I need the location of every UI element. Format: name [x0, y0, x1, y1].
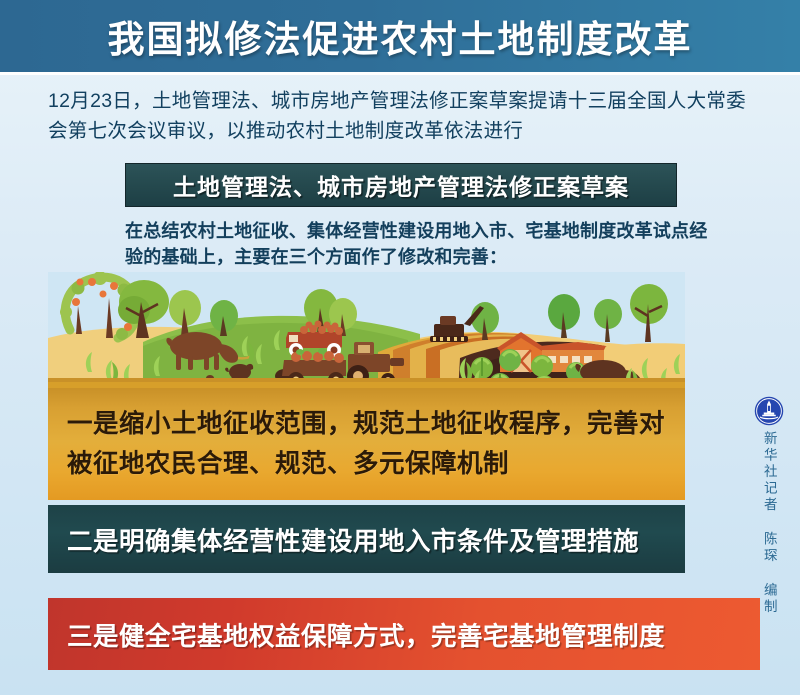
credit-block: 新华社记者 陈琛 编制 — [752, 396, 786, 616]
law-title-label: 土地管理法、城市房地产管理法修正案草案 — [173, 168, 629, 202]
leadin-paragraph: 在总结农村土地征收、集体经营性建设用地入市、宅基地制度改革试点经验的基础上，主要… — [125, 218, 725, 270]
point-block-3: 三是健全宅基地权益保障方式，完善宅基地管理制度 — [48, 598, 760, 670]
law-title-banner: 土地管理法、城市房地产管理法修正案草案 — [125, 163, 677, 207]
xinhua-news-agency-logo — [754, 396, 784, 426]
header-divider — [0, 72, 800, 75]
point-block-1: 一是缩小土地征收范围，规范土地征收程序，完善对被征地农民合理、规范、多元保障机制 — [48, 388, 685, 500]
infographic-root: 我国拟修法促进农村土地制度改革 12月23日，土地管理法、城市房地产管理法修正案… — [0, 0, 800, 695]
subtitle-paragraph: 12月23日，土地管理法、城市房地产管理法修正案草案提请十三届全国人大常委会第七… — [48, 86, 760, 146]
credit-text: 新华社记者 陈琛 编制 — [762, 431, 776, 616]
header-banner: 我国拟修法促进农村土地制度改革 — [0, 0, 800, 72]
point-block-2: 二是明确集体经营性建设用地入市条件及管理措施 — [48, 505, 685, 573]
page-title: 我国拟修法促进农村土地制度改革 — [108, 9, 693, 63]
rural-farmland-scene — [48, 272, 685, 394]
point-3-text: 三是健全宅基地权益保障方式，完善宅基地管理制度 — [48, 616, 665, 653]
point-1-text: 一是缩小土地征收范围，规范土地征收程序，完善对被征地农民合理、规范、多元保障机制 — [48, 404, 685, 484]
point-2-text: 二是明确集体经营性建设用地入市条件及管理措施 — [48, 521, 639, 558]
